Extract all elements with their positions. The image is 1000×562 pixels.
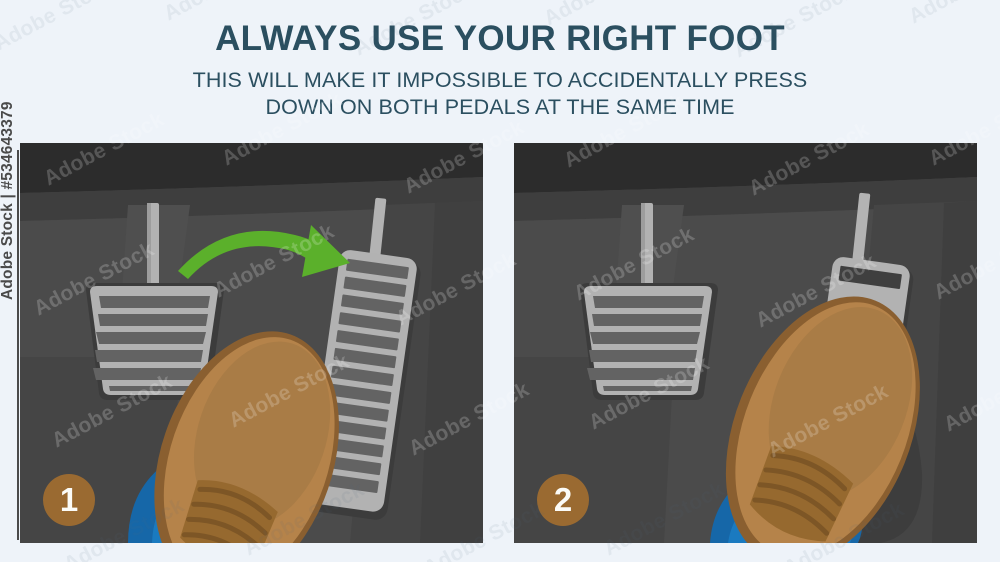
page-subtitle: THIS WILL MAKE IT IMPOSSIBLE TO ACCIDENT… [0, 58, 1000, 121]
illustration-panel-2: 2 [514, 143, 977, 543]
infographic-canvas: ALWAYS USE YOUR RIGHT FOOT THIS WILL MAK… [0, 0, 1000, 562]
brake-pedal-arm-shade [147, 203, 151, 291]
illustration-panel-1: 1 [20, 143, 483, 543]
step-badge-1: 1 [43, 474, 95, 526]
watermark-side-label: Adobe Stock | #534643379 [0, 101, 17, 300]
brake-pedal-arm-shade [641, 203, 645, 291]
watermark-side-rule [17, 150, 19, 540]
page-title: ALWAYS USE YOUR RIGHT FOOT [0, 0, 1000, 58]
subtitle-line-2: DOWN ON BOTH PEDALS AT THE SAME TIME [0, 94, 1000, 121]
subtitle-line-1: THIS WILL MAKE IT IMPOSSIBLE TO ACCIDENT… [0, 67, 1000, 94]
step-badge-2: 2 [537, 474, 589, 526]
heading-block: ALWAYS USE YOUR RIGHT FOOT THIS WILL MAK… [0, 0, 1000, 121]
